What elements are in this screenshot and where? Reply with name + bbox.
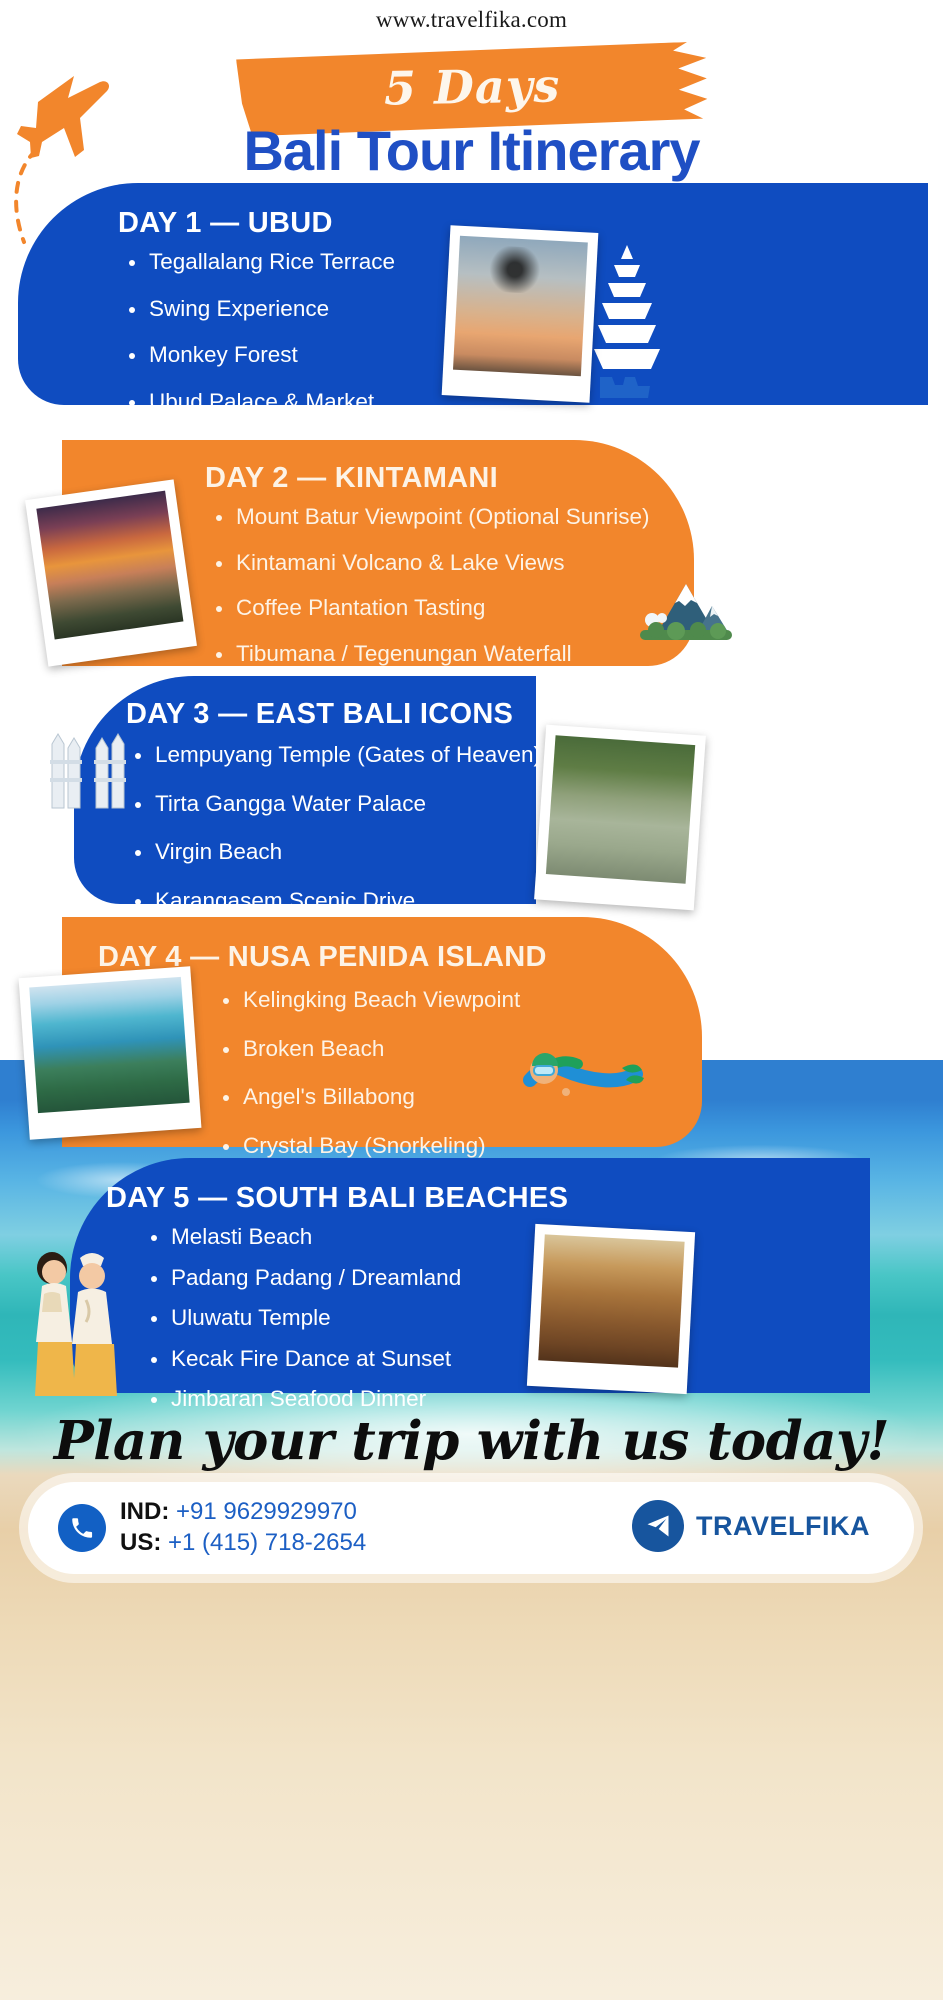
list-item: Tibumana / Tegenungan Waterfall bbox=[210, 643, 650, 666]
list-item: Lempuyang Temple (Gates of Heaven) bbox=[129, 744, 541, 767]
days-badge-label: 5 Days bbox=[383, 58, 560, 115]
snorkeling-diver-icon bbox=[522, 1046, 644, 1126]
paper-plane-icon bbox=[632, 1500, 684, 1552]
ubud-swing-photo bbox=[442, 225, 599, 403]
list-item: Broken Beach bbox=[217, 1038, 520, 1061]
day-2-points: Mount Batur Viewpoint (Optional Sunrise)… bbox=[210, 506, 650, 688]
day-card-3: DAY 3 — EAST BALI ICONS Lempuyang Temple… bbox=[74, 676, 536, 904]
contact-label-us: US: bbox=[120, 1529, 161, 1556]
mount-batur-sunrise-photo bbox=[25, 479, 197, 666]
list-item: Crystal Bay (Snorkeling) bbox=[217, 1135, 520, 1158]
site-url: www.travelfika.com bbox=[0, 0, 943, 33]
day-card-5: DAY 5 — SOUTH BALI BEACHES Melasti Beach… bbox=[70, 1158, 870, 1393]
tirta-gangga-photo bbox=[534, 725, 706, 911]
list-item: Angel's Billabong bbox=[217, 1086, 520, 1109]
list-item: Kelingking Beach Viewpoint bbox=[217, 989, 520, 1012]
list-item: Coffee Plantation Tasting bbox=[210, 597, 650, 620]
list-item: Kintamani Volcano & Lake Views bbox=[210, 552, 650, 575]
bali-pura-temple-icon bbox=[592, 243, 662, 403]
brand-name: TRAVELFIKA bbox=[696, 1511, 870, 1542]
list-item: Karangasem Scenic Drive bbox=[129, 890, 541, 913]
jimbaran-seafood-photo bbox=[527, 1224, 695, 1394]
list-item: Mount Batur Viewpoint (Optional Sunrise) bbox=[210, 506, 650, 529]
list-item: Tirta Gangga Water Palace bbox=[129, 793, 541, 816]
list-item: Ubud Palace & Market bbox=[123, 391, 395, 414]
phone-icon bbox=[58, 1504, 106, 1552]
contact-number-ind[interactable]: +91 9629929970 bbox=[176, 1498, 357, 1525]
contact-bar: IND: +91 9629929970 US: +1 (415) 718-265… bbox=[28, 1482, 914, 1574]
list-item: Padang Padang / Dreamland bbox=[145, 1267, 461, 1290]
mountain-icon bbox=[640, 580, 732, 642]
day-4-points: Kelingking Beach Viewpoint Broken Beach … bbox=[217, 989, 520, 1183]
day-3-title: DAY 3 — EAST BALI ICONS bbox=[126, 698, 513, 731]
day-2-title: DAY 2 — KINTAMANI bbox=[205, 462, 498, 495]
contact-row-us: US: +1 (415) 718-2654 bbox=[120, 1527, 366, 1558]
list-item: Uluwatu Temple bbox=[145, 1307, 461, 1330]
list-item: Swing Experience bbox=[123, 298, 395, 321]
list-item: Kecak Fire Dance at Sunset bbox=[145, 1348, 461, 1371]
balinese-couple-icon bbox=[18, 1240, 132, 1400]
brand-logo: TRAVELFIKA bbox=[632, 1500, 870, 1552]
contact-number-us[interactable]: +1 (415) 718-2654 bbox=[168, 1529, 366, 1556]
candi-bentar-gate-icon bbox=[46, 730, 130, 812]
contact-label-ind: IND: bbox=[120, 1498, 169, 1525]
list-item: Jimbaran Seafood Dinner bbox=[145, 1388, 461, 1411]
list-item: Tegallalang Rice Terrace bbox=[123, 251, 395, 274]
day-5-points: Melasti Beach Padang Padang / Dreamland … bbox=[145, 1226, 461, 1429]
list-item: Virgin Beach bbox=[129, 841, 541, 864]
tagline: Plan your trip with us today! bbox=[0, 1410, 943, 1472]
day-5-title: DAY 5 — SOUTH BALI BEACHES bbox=[106, 1182, 568, 1215]
kelingking-beach-photo bbox=[19, 966, 202, 1140]
list-item: Monkey Forest bbox=[123, 344, 395, 367]
page-title: Bali Tour Itinerary bbox=[0, 118, 943, 183]
contact-list: IND: +91 9629929970 US: +1 (415) 718-265… bbox=[120, 1496, 366, 1558]
day-3-points: Lempuyang Temple (Gates of Heaven) Tirta… bbox=[129, 744, 541, 938]
list-item: Melasti Beach bbox=[145, 1226, 461, 1249]
contact-row-ind: IND: +91 9629929970 bbox=[120, 1496, 366, 1527]
